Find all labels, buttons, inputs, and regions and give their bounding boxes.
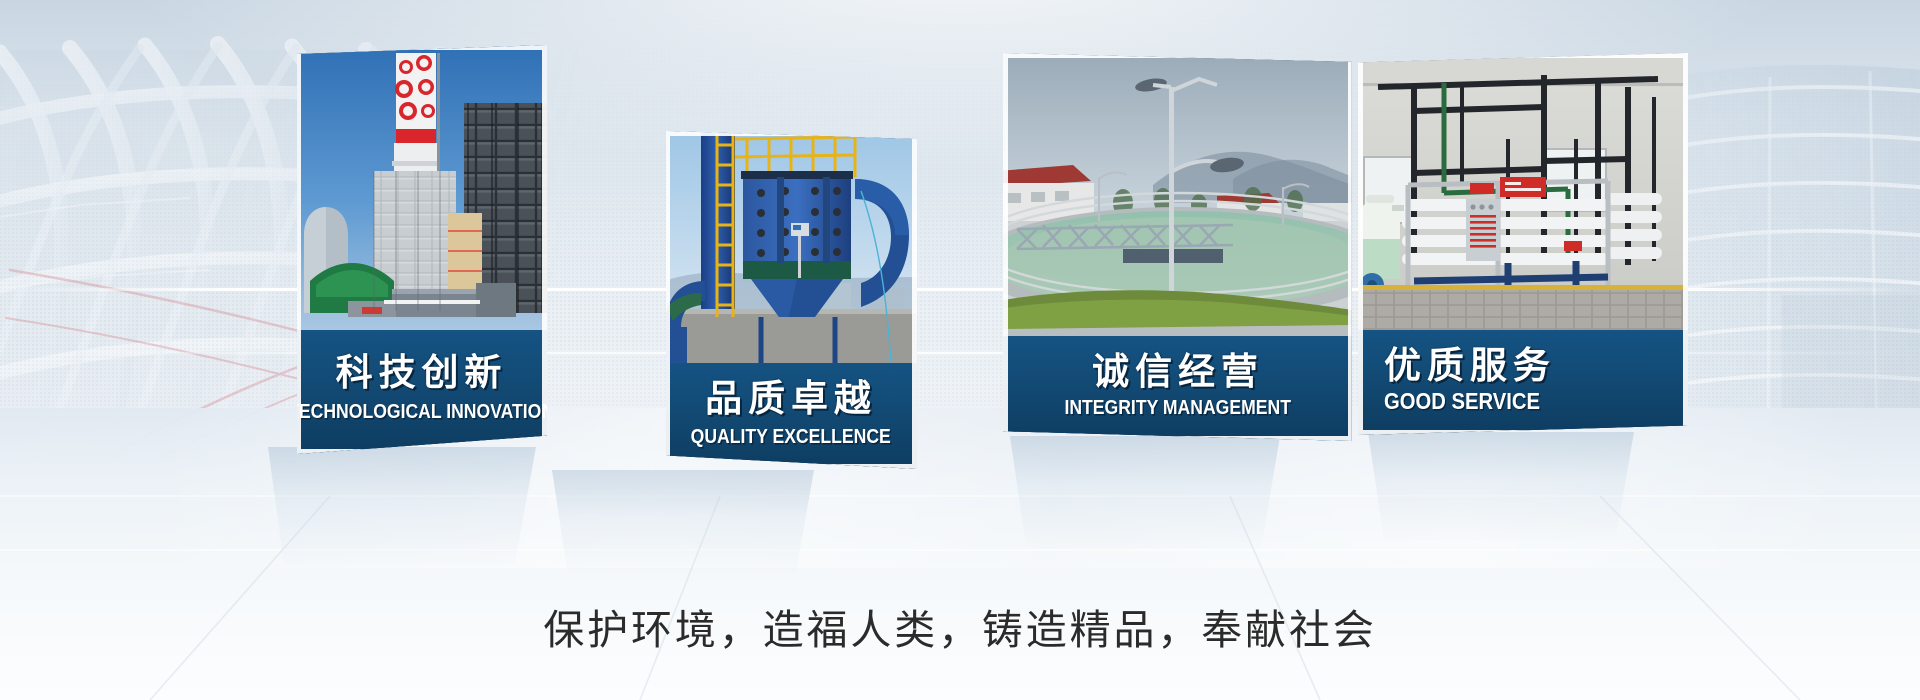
caption-title-cn: 诚信经营 <box>1092 353 1264 390</box>
caption-title-cn: 品质卓越 <box>705 380 877 417</box>
photo-reverse-osmosis-plant <box>1358 53 1688 330</box>
photo-flue-gas-stack <box>296 45 547 330</box>
caption-good-service: 优质服务 GOOD SERVICE <box>1358 330 1688 435</box>
card-integrity-management[interactable]: 诚信经营 INTEGRITY MANAGEMENT <box>1003 53 1353 441</box>
caption-title-en: TECHNOLOGICAL INNOVATION <box>296 402 547 422</box>
caption-title-cn: 优质服务 <box>1384 347 1556 384</box>
photo-dust-collector <box>665 131 917 363</box>
photo-wastewater-clarifier <box>1003 53 1353 336</box>
banner-tagline: 保护环境，造福人类，铸造精品，奉献社会 <box>0 596 1920 656</box>
card-technological-innovation[interactable]: 科技创新 TECHNOLOGICAL INNOVATION <box>296 45 547 454</box>
caption-title-en: GOOD SERVICE <box>1384 390 1540 413</box>
card-quality-excellence[interactable]: 品质卓越 QUALITY EXCELLENCE <box>665 131 917 469</box>
value-cards-row: 科技创新 TECHNOLOGICAL INNOVATION <box>0 0 1920 700</box>
caption-title-cn: 科技创新 <box>336 354 508 391</box>
caption-integrity-management: 诚信经营 INTEGRITY MANAGEMENT <box>1003 336 1353 441</box>
caption-technological-innovation: 科技创新 TECHNOLOGICAL INNOVATION <box>296 330 547 454</box>
caption-title-en: INTEGRITY MANAGEMENT <box>1065 398 1292 418</box>
caption-title-en: QUALITY EXCELLENCE <box>691 427 891 447</box>
caption-quality-excellence: 品质卓越 QUALITY EXCELLENCE <box>665 363 917 469</box>
card-good-service[interactable]: 优质服务 GOOD SERVICE <box>1358 53 1688 435</box>
corporate-values-banner: 科技创新 TECHNOLOGICAL INNOVATION <box>0 0 1920 700</box>
